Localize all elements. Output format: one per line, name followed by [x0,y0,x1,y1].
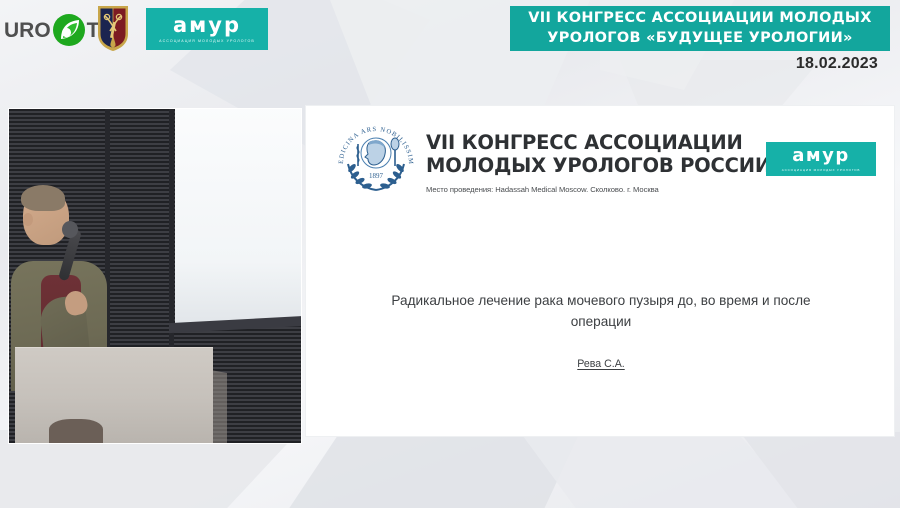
slide-amur-subtitle: АССОЦИАЦИЯ МОЛОДЫХ УРОЛОГОВ [782,168,860,172]
slide-amur-word: амур [792,147,849,165]
screen-root: URO TV [0,0,900,508]
congress-shield-emblem [96,4,130,52]
urotv-leaf-icon [52,13,86,47]
microphone-head-icon [62,221,78,238]
slide-body: Радикальное лечение рака мочевого пузыря… [362,290,840,370]
slide-header: MEDICINA ARS NOBILISSIMA [306,114,894,202]
congress-title-banner: VII КОНГРЕСС АССОЦИАЦИИ МОЛОДЫХ УРОЛОГОВ… [510,6,890,51]
amur-logo-subtitle: АССОЦИАЦИЯ МОЛОДЫХ УРОЛОГОВ [159,39,255,43]
svg-text:1897: 1897 [369,172,384,180]
slide-congress-title: VII КОНГРЕСС АССОЦИАЦИИ МОЛОДЫХ УРОЛОГОВ… [426,132,746,194]
background-facet [520,432,820,508]
slide-title-line2: МОЛОДЫХ УРОЛОГОВ РОССИИ [426,155,746,178]
presentation-author: Рева С.А. [362,358,840,370]
audience-head [49,419,103,444]
presentation-slide[interactable]: MEDICINA ARS NOBILISSIMA [305,105,895,437]
urotv-logo-text-left: URO [4,20,51,41]
page-header: URO TV [0,0,900,96]
background-facet [740,432,900,508]
speaker-ear [23,213,33,226]
slide-title-line1: VII КОНГРЕСС АССОЦИАЦИИ [426,132,746,155]
projection-screen [175,108,302,323]
slide-amur-logo: амур АССОЦИАЦИЯ МОЛОДЫХ УРОЛОГОВ [766,142,876,176]
amur-logo-word: амур [173,15,241,36]
background-facet [280,432,580,508]
medicina-ars-nobilissima-emblem: MEDICINA ARS NOBILISSIMA [334,118,418,200]
slide-venue-text: Место проведения: Hadassah Medical Mosco… [426,185,746,194]
podium [15,347,213,444]
speaker-hair [21,185,65,211]
congress-title-line2: УРОЛОГОВ «БУДУЩЕЕ УРОЛОГИИ» [547,29,852,48]
presentation-title: Радикальное лечение рака мочевого пузыря… [362,290,840,332]
speaker-video-feed[interactable] [8,108,302,444]
congress-title-line1: VII КОНГРЕСС АССОЦИАЦИИ МОЛОДЫХ [528,9,871,28]
amur-logo[interactable]: амур АССОЦИАЦИЯ МОЛОДЫХ УРОЛОГОВ [146,8,268,50]
congress-date: 18.02.2023 [510,55,890,73]
